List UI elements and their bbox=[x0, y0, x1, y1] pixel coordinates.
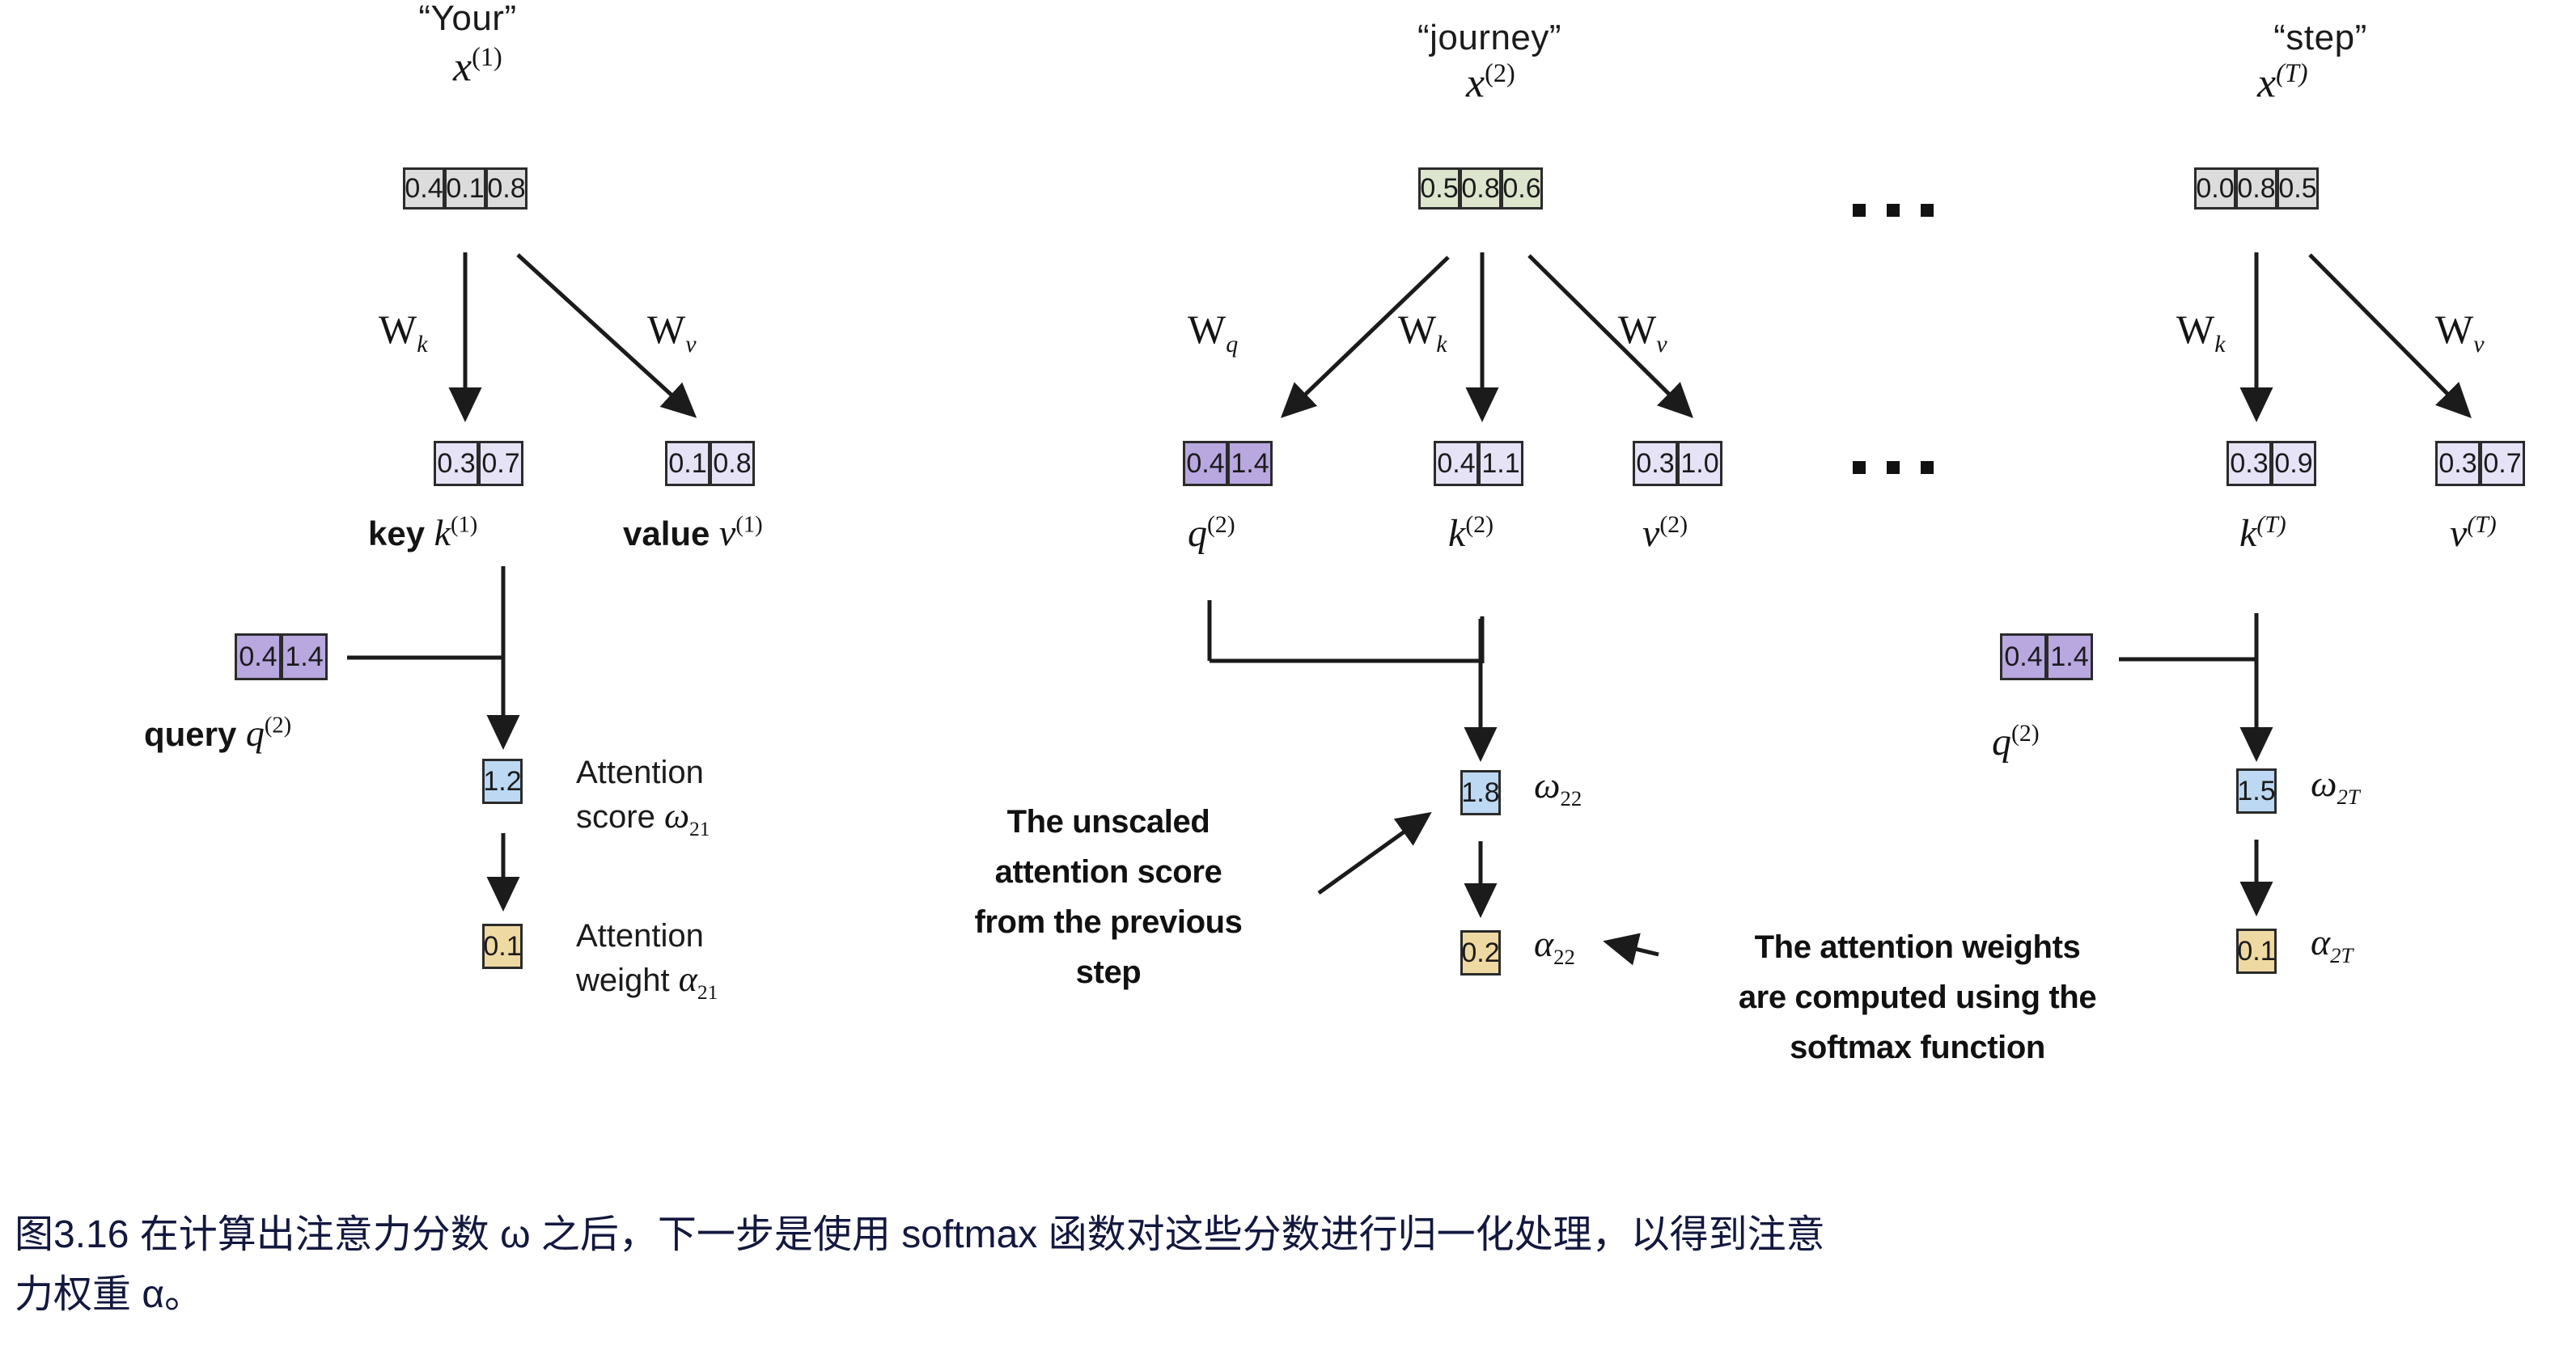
query-cell: 0.4 bbox=[2000, 633, 2047, 680]
matrix-label-wv-1: Wv bbox=[647, 306, 697, 358]
annotation-line: are computed using the bbox=[1675, 972, 2160, 1022]
ellipsis-top-icon bbox=[1853, 204, 1934, 217]
attention-weight-symbol-t: α2T bbox=[2311, 921, 2353, 968]
key-cell: 0.4 bbox=[1434, 441, 1479, 486]
query-cell: 1.4 bbox=[2046, 633, 2093, 680]
value-label-2: v(2) bbox=[1642, 511, 1688, 556]
matrix-label-wv-2: Wv bbox=[1618, 306, 1667, 358]
matrix-label-wk-2: Wk bbox=[1398, 306, 1447, 358]
value-vector-2: 0.3 1.0 bbox=[1633, 441, 1722, 486]
matrix-label-wq-2: Wq bbox=[1188, 306, 1238, 358]
attention-weight-box-1: 0.1 bbox=[482, 924, 522, 969]
input-vector-2: 0.5 0.8 0.6 bbox=[1418, 167, 1542, 209]
key-vector-1: 0.3 0.7 bbox=[434, 441, 523, 486]
token-word-1: “Your” bbox=[379, 0, 557, 39]
query-vector-1: 0.4 1.4 bbox=[235, 633, 327, 680]
query-cell: 1.4 bbox=[281, 633, 328, 680]
value-vector-1: 0.1 0.8 bbox=[665, 441, 754, 486]
score-label-line1: Attention bbox=[576, 755, 704, 790]
annotation-line: attention score bbox=[914, 847, 1303, 897]
weight-symbol-1: α21 bbox=[679, 959, 718, 999]
attention-weight-label-1: Attention weight α21 bbox=[576, 916, 718, 1006]
query-vector-t: 0.4 1.4 bbox=[2000, 633, 2092, 680]
value-vector-t: 0.3 0.7 bbox=[2435, 441, 2524, 486]
key-cell: 0.9 bbox=[2271, 441, 2316, 486]
value-cell: 0.1 bbox=[665, 441, 710, 486]
query-cell: 0.4 bbox=[1183, 441, 1228, 486]
annotation-softmax: The attention weights are computed using… bbox=[1675, 922, 2160, 1073]
input-cell: 0.8 bbox=[1460, 167, 1502, 209]
caption-line-2: 力权重 α。 bbox=[15, 1265, 2563, 1325]
query-label-1: query q(2) bbox=[144, 712, 291, 755]
attention-score-value: 1.8 bbox=[1460, 770, 1501, 815]
ellipsis-middle-icon bbox=[1853, 461, 1934, 474]
attention-weight-value: 0.1 bbox=[482, 924, 523, 969]
value-label-1: value v(1) bbox=[623, 511, 763, 554]
weight-label-line2: weight bbox=[576, 963, 670, 998]
attention-weight-symbol-2: α22 bbox=[1534, 922, 1575, 970]
input-vector-t: 0.0 0.8 0.5 bbox=[2194, 167, 2318, 209]
attention-score-box-1: 1.2 bbox=[482, 759, 522, 804]
attention-weight-box-t: 0.1 bbox=[2236, 929, 2276, 974]
attention-score-value: 1.5 bbox=[2236, 768, 2277, 814]
caption-line-1: 图3.16 在计算出注意力分数 ω 之后，下一步是使用 softmax 函数对这… bbox=[15, 1205, 2563, 1265]
input-vector-1: 0.4 0.1 0.8 bbox=[403, 167, 527, 209]
input-label-1: x(1) bbox=[453, 42, 502, 91]
value-cell: 0.7 bbox=[2480, 441, 2525, 486]
query-label-t: q(2) bbox=[1992, 720, 2040, 764]
attention-score-symbol-2: ω22 bbox=[1534, 764, 1582, 811]
input-cell: 0.1 bbox=[444, 167, 486, 209]
query-cell: 1.4 bbox=[1227, 441, 1273, 486]
key-label-t: k(T) bbox=[2239, 511, 2286, 556]
query-vector-2: 0.4 1.4 bbox=[1183, 441, 1272, 486]
key-cell: 0.3 bbox=[434, 441, 479, 486]
score-label-line2: score bbox=[576, 799, 655, 835]
query-cell: 0.4 bbox=[235, 633, 282, 680]
matrix-label-wv-t: Wv bbox=[2435, 306, 2485, 358]
key-label-1: key k(1) bbox=[368, 511, 477, 554]
key-label-2: k(2) bbox=[1448, 511, 1493, 556]
input-cell: 0.8 bbox=[485, 167, 527, 209]
annotation-line: The unscaled bbox=[914, 797, 1303, 847]
key-vector-t: 0.3 0.9 bbox=[2226, 441, 2315, 486]
input-label-t: x(T) bbox=[2257, 58, 2308, 107]
annotation-line: from the previous bbox=[914, 897, 1303, 947]
value-label-t: v(T) bbox=[2450, 511, 2497, 556]
value-cell: 0.8 bbox=[710, 441, 755, 486]
attention-score-value: 1.2 bbox=[482, 759, 523, 804]
figure-canvas: “Your” x(1) 0.4 0.1 0.8 Wk Wv 0.3 0.7 0.… bbox=[0, 0, 2576, 1367]
token-word-t: “step” bbox=[2239, 18, 2401, 58]
attention-score-label-1: Attention score ω21 bbox=[576, 752, 710, 843]
input-cell: 0.6 bbox=[1501, 167, 1543, 209]
input-cell: 0.5 bbox=[1418, 167, 1460, 209]
token-word-2: “journey” bbox=[1396, 18, 1582, 58]
input-cell: 0.5 bbox=[2277, 167, 2319, 209]
annotation-line: softmax function bbox=[1675, 1022, 2160, 1073]
attention-score-symbol-t: ω2T bbox=[2311, 762, 2360, 810]
attention-score-box-t: 1.5 bbox=[2236, 768, 2276, 814]
input-cell: 0.0 bbox=[2194, 167, 2236, 209]
value-cell: 1.0 bbox=[1677, 441, 1722, 486]
weight-label-line1: Attention bbox=[576, 918, 704, 954]
input-cell: 0.4 bbox=[403, 167, 445, 209]
matrix-label-wk-1: Wk bbox=[379, 306, 428, 358]
query-label-2: q(2) bbox=[1188, 511, 1235, 556]
attention-score-box-2: 1.8 bbox=[1460, 770, 1500, 815]
key-cell: 0.3 bbox=[2226, 441, 2272, 486]
score-symbol-1: ω21 bbox=[664, 796, 710, 836]
input-cell: 0.8 bbox=[2235, 167, 2277, 209]
key-vector-2: 0.4 1.1 bbox=[1434, 441, 1523, 486]
key-cell: 0.7 bbox=[478, 441, 523, 486]
attention-weight-value: 0.1 bbox=[2236, 929, 2277, 974]
value-cell: 0.3 bbox=[2435, 441, 2481, 486]
key-cell: 1.1 bbox=[1478, 441, 1523, 486]
figure-caption: 图3.16 在计算出注意力分数 ω 之后，下一步是使用 softmax 函数对这… bbox=[15, 1205, 2563, 1326]
annotation-unscaled-score: The unscaled attention score from the pr… bbox=[914, 797, 1303, 997]
annotation-line: step bbox=[914, 947, 1303, 997]
annotation-line: The attention weights bbox=[1675, 922, 2160, 972]
attention-weight-value: 0.2 bbox=[1460, 930, 1501, 976]
matrix-label-wk-t: Wk bbox=[2176, 306, 2226, 358]
input-label-2: x(2) bbox=[1466, 58, 1515, 107]
value-cell: 0.3 bbox=[1633, 441, 1678, 486]
attention-weight-box-2: 0.2 bbox=[1460, 930, 1500, 976]
